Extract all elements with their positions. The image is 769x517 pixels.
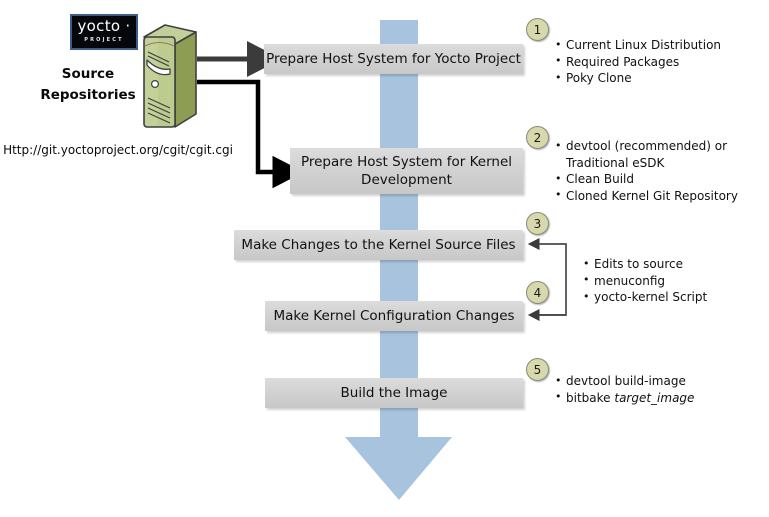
bullet-item-continuation: Traditional eSDK — [555, 155, 738, 172]
bullet-list-step-1: Current Linux Distribution Required Pack… — [555, 37, 721, 87]
bullet-item: Edits to source — [583, 256, 707, 273]
bullet-item: yocto-kernel Script — [583, 289, 707, 306]
diagram-canvas: yocto · PROJECT Source Repositories Http… — [0, 0, 769, 517]
bullet-item: Required Packages — [555, 54, 721, 71]
bullet-item-prefix: bitbake — [566, 391, 614, 405]
step-number-5: 5 — [526, 358, 549, 381]
bullet-item: Cloned Kernel Git Repository — [555, 188, 738, 205]
step-number-4: 4 — [526, 281, 549, 304]
step-number-1: 1 — [526, 18, 549, 41]
bullet-item: Clean Build — [555, 171, 738, 188]
bullet-list-step-5: devtool build-image bitbake target_image — [555, 373, 694, 406]
process-box-step-1-label: Prepare Host System for Yocto Project — [266, 50, 521, 68]
arrow-loop-step4-to-step3 — [534, 244, 566, 315]
bullet-item: Current Linux Distribution — [555, 37, 721, 54]
process-box-step-4-label: Make Kernel Configuration Changes — [273, 307, 514, 325]
step-number-3: 3 — [526, 212, 549, 235]
bullet-item: bitbake target_image — [555, 390, 694, 407]
process-box-step-5[interactable]: Build the Image — [265, 378, 523, 408]
bullet-list-step-2: devtool (recommended) or Traditional eSD… — [555, 138, 738, 204]
bullet-list-loop: Edits to source menuconfig yocto-kernel … — [583, 256, 707, 306]
bullet-item: menuconfig — [583, 273, 707, 290]
process-box-step-1[interactable]: Prepare Host System for Yocto Project — [264, 44, 523, 74]
process-box-step-2-label: Prepare Host System for Kernel Developme… — [301, 153, 512, 189]
process-box-step-3-label: Make Changes to the Kernel Source Files — [241, 236, 515, 254]
bullet-item: Poky Clone — [555, 70, 721, 87]
step-number-2: 2 — [526, 126, 549, 149]
arrow-server-to-step2 — [197, 82, 277, 172]
process-box-step-2-line-2: Development — [361, 172, 452, 188]
bullet-item: devtool build-image — [555, 373, 694, 390]
process-box-step-2[interactable]: Prepare Host System for Kernel Developme… — [290, 148, 523, 194]
bullet-item-italic-target: target_image — [614, 391, 694, 405]
process-box-step-2-line-1: Prepare Host System for Kernel — [301, 154, 512, 170]
bullet-item: devtool (recommended) or — [555, 138, 738, 155]
process-box-step-4[interactable]: Make Kernel Configuration Changes — [265, 301, 523, 331]
process-box-step-5-label: Build the Image — [341, 384, 448, 402]
process-box-step-3[interactable]: Make Changes to the Kernel Source Files — [234, 230, 523, 260]
